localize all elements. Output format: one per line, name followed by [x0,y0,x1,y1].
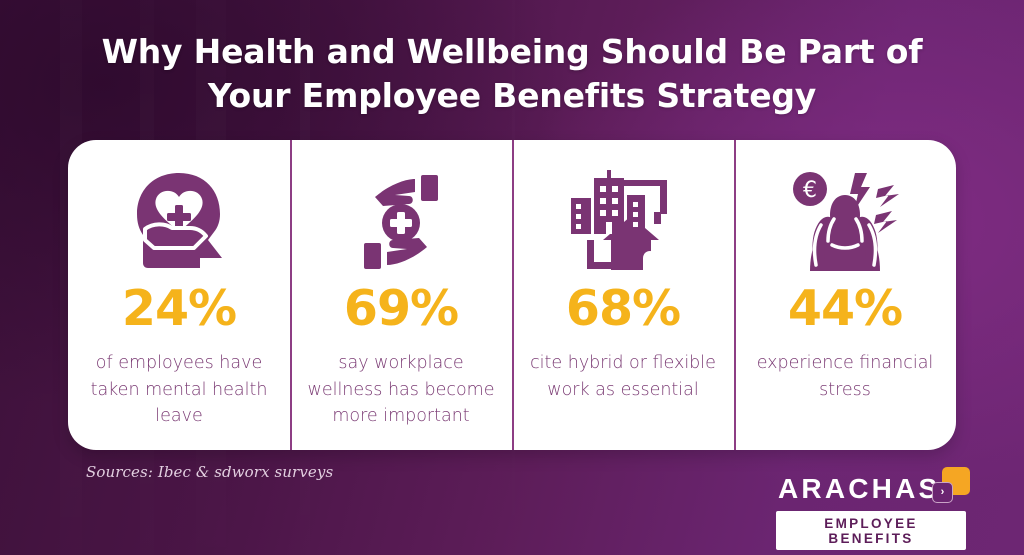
arachas-logo[interactable]: ARACHAS › EMPLOYEE BENEFITS [776,472,966,550]
stressed-person-euro-icon: € [786,162,904,280]
stat-card-financial-stress: € 44% experience financial stress [734,140,956,450]
svg-text:€: € [803,178,817,203]
office-home-exchange-icon [565,162,681,280]
page-title: Why Health and Wellbeing Should Be Part … [0,30,1024,118]
sources-note: Sources: Ibec & sdworx surveys [86,463,333,481]
logo-tagline: EMPLOYEE BENEFITS [776,511,966,550]
stat-caption: experience financial stress [748,350,942,403]
title-line-2: Your Employee Benefits Strategy [70,74,954,118]
logo-square-chevron: › [932,482,953,503]
stat-percent: 69% [344,284,458,333]
title-line-1: Why Health and Wellbeing Should Be Part … [102,32,923,71]
stat-percent: 44% [788,284,902,333]
stat-card-workplace-wellness: 69% say workplace wellness has become mo… [290,140,512,450]
logo-mark-icon: › [932,467,970,503]
statistics-panel: 24% of employees have taken mental healt… [68,140,956,450]
stat-caption: say workplace wellness has become more i… [304,350,498,430]
head-heart-hand-icon [123,162,235,280]
stat-card-hybrid-work: 68% cite hybrid or flexible work as esse… [512,140,734,450]
stat-caption: cite hybrid or flexible work as essentia… [526,350,720,403]
stat-percent: 24% [122,284,236,333]
stat-caption: of employees have taken mental health le… [82,350,276,430]
logo-wordmark: ARACHAS [778,472,940,506]
stat-percent: 68% [566,284,680,333]
hands-medical-cross-icon [345,162,457,280]
logo-top-row: ARACHAS › [776,472,966,508]
stat-card-mental-health-leave: 24% of employees have taken mental healt… [68,140,290,450]
